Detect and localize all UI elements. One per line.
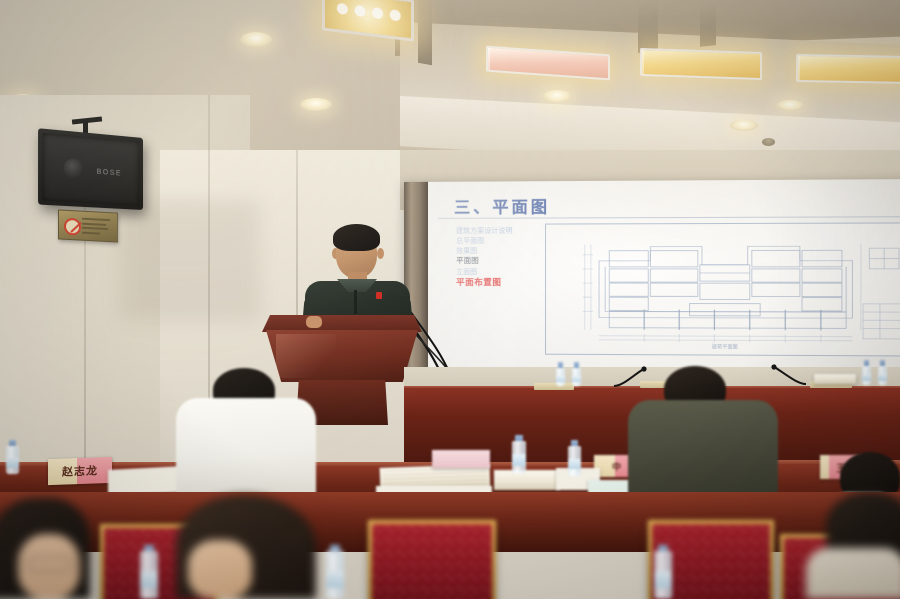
toc-item-4: 立面图 [456,267,537,277]
podium-top [262,315,422,332]
bottle-body [654,551,672,599]
ceiling-beam-mid2 [700,0,716,47]
toc-item-0: 建筑方案设计说明 [456,226,537,236]
speaker-driver-icon [64,158,85,180]
foreground-face-2 [188,540,252,599]
ceiling-beam-mid [638,0,658,53]
water-bottle-row2-3 [568,440,581,476]
ceiling-downlight-6 [776,100,804,111]
bottle-label [140,571,158,588]
bottle-label [654,571,672,588]
water-bottle-front-3 [654,545,672,599]
bottle-body [6,446,19,474]
slide-toc: 建筑方案设计说明 总平面图 效果图 平面图 立面图 平面布置图 [456,226,537,290]
foreground-body-3 [806,548,900,599]
ceiling-light-troffer-2 [640,48,762,80]
head-table-pad-1 [534,383,574,390]
presenter-hair [333,224,380,251]
plaque-text-lines [82,218,110,237]
bottle-body [878,366,887,385]
speaker-grille-icon [42,133,139,206]
floor-plan-caption: 建筑平面图 [712,343,738,350]
nameplate-text-1: 赵志龙 [48,457,112,485]
eyeglasses-icon [28,556,72,572]
nameplate-1: 赵志龙 [48,457,112,485]
slide-title: 三、平面图 [454,193,550,218]
bottle-body [572,368,581,386]
troffer-grid [642,50,760,78]
bottle-body [556,368,565,386]
bottle-label [6,458,19,468]
water-bottle-row2-2 [512,435,526,473]
water-bottle-head-2 [572,362,581,386]
bottle-label [568,459,581,470]
bottle-label [512,454,526,466]
bottle-label [878,374,887,381]
bottle-label [556,376,565,382]
toc-item-5: 平面布置图 [456,277,537,289]
bottle-body [862,366,871,385]
bottle-body [512,441,526,473]
presenter-hand [306,316,322,328]
wall-shadow [120,200,260,320]
wall-panel-seam-1 [84,200,86,500]
no-smoking-plaque [58,209,118,242]
water-bottle-row2-1 [6,440,19,474]
conference-room-photo: BOSE 三、平面图 建筑方案设计说明 总平面图 效果图 平面图 立面图 平面布… [0,0,900,599]
smoke-detector-icon [762,138,775,146]
open-document-2 [494,470,560,490]
head-table-microphone-2 [768,364,808,386]
toc-item-2: 效果图 [456,246,537,256]
ceiling-downlight-4 [542,90,572,103]
presenter-placket [354,290,357,314]
water-bottle-head-4 [878,360,887,385]
bottle-label [572,376,581,382]
ceiling-beam-left [418,0,432,65]
hair-tie-bun [278,520,308,546]
water-bottle-head-1 [556,362,565,386]
head-table-napkin [814,374,856,384]
no-smoking-icon [64,218,81,236]
attendee-body [176,398,316,498]
floor-plan-drawing: 建筑平面图 [545,222,900,356]
presenter-badge [376,292,382,299]
bottle-body [140,551,158,599]
document-pink-1 [432,450,490,468]
toc-item-1: 总平面图 [456,236,537,246]
troffer-grid [798,56,900,82]
bottle-label [862,374,871,381]
wall-panel-seam-3 [296,150,298,330]
bottle-body [568,446,581,476]
ceiling-downlight-1 [240,32,272,47]
water-bottle-front-1 [140,545,158,599]
water-bottle-head-3 [862,360,871,385]
ceiling-downlight-3 [300,98,332,111]
wall-speaker: BOSE [38,128,143,210]
bottle-body [326,551,344,599]
toc-item-3: 平面图 [456,256,537,267]
chair-fabric [372,524,492,599]
water-bottle-front-2 [326,545,344,599]
podium-sheen [276,334,336,378]
ceiling-downlight-5 [730,120,758,131]
presenter-ear-right [377,248,384,259]
chair-2 [368,520,496,599]
head-table-microphone-1 [612,366,652,388]
no-smoking-slash-icon [70,221,81,232]
ceiling-light-troffer-3 [796,54,900,84]
bottle-label [326,571,344,588]
floor-plan-svg: 建筑平面图 [546,223,900,355]
